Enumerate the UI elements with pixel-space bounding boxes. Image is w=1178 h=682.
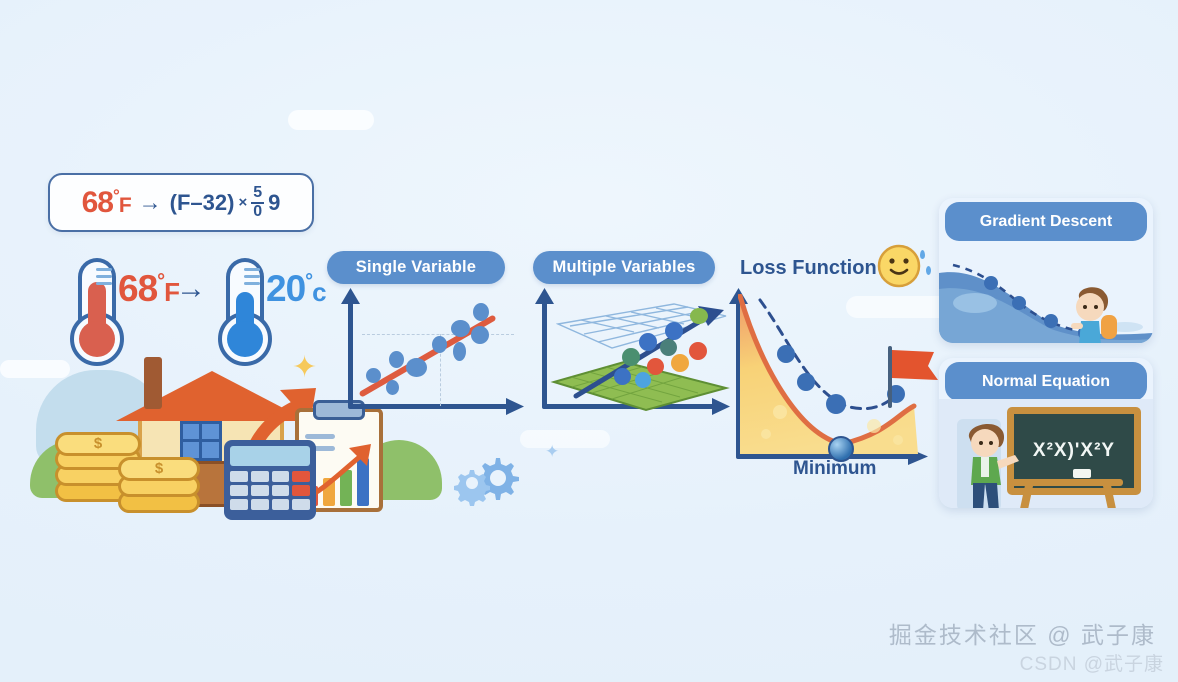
cloud-icon	[520, 430, 610, 448]
red-flag-icon	[888, 346, 944, 412]
gears-icon	[452, 450, 522, 506]
data-point	[689, 342, 707, 360]
sweat-drop-icon	[926, 266, 931, 275]
data-point	[622, 348, 640, 366]
panel-label-single-variable[interactable]: Single Variable	[327, 251, 505, 284]
data-point	[453, 342, 466, 361]
formula-times-icon: ×	[238, 194, 247, 211]
data-point	[671, 354, 689, 372]
conversion-formula-box: 68°F → (F–32) × 5 0 9	[48, 173, 314, 232]
data-point	[639, 333, 657, 351]
sparkle-icon: ✦	[545, 442, 559, 462]
data-point	[614, 368, 631, 385]
formula-trailing-digit: 9	[268, 190, 280, 216]
boy-walking-downhill-icon	[1055, 283, 1133, 343]
data-point	[451, 320, 470, 337]
blackboard-equation: X²X)'X²Y	[1033, 440, 1115, 462]
loss-function-label: Loss Function	[740, 257, 877, 280]
minimum-label: Minimum	[793, 458, 876, 480]
formula-expression: (F–32) × 5 0 9	[170, 185, 281, 220]
watermark-primary: 掘金技术社区 @ 武子康	[889, 616, 1156, 650]
cloud-icon	[288, 110, 374, 130]
illustration-canvas: 68°F → (F–32) × 5 0 9 68°F → 20°c	[0, 0, 1178, 682]
card-normal-equation[interactable]: Normal Equation X²X)'X²Y	[939, 358, 1153, 508]
watermark-secondary: CSDN @武子康	[1020, 649, 1164, 676]
smiley-face-icon	[876, 242, 924, 290]
data-point	[690, 308, 708, 324]
data-point	[386, 380, 399, 395]
sweat-drop-icon	[920, 250, 925, 259]
data-point	[389, 351, 404, 368]
card-title-normal-equation: Normal Equation	[945, 362, 1147, 401]
data-point	[660, 339, 677, 356]
eraser-icon	[1073, 469, 1091, 478]
temperature-label-celsius: 20°c	[266, 268, 326, 310]
surface-3d-chart	[534, 288, 734, 420]
formula-input-temp: 68°F	[82, 186, 131, 220]
coin-stack-icon: $	[118, 455, 200, 517]
boy-teacher-icon	[959, 417, 1031, 508]
data-point	[665, 322, 683, 340]
sparkle-icon: ✦	[292, 350, 317, 385]
panel-label-multiple-variables[interactable]: Multiple Variables	[533, 251, 715, 284]
data-point	[471, 326, 489, 344]
data-point	[406, 358, 427, 377]
cloud-icon	[0, 360, 70, 378]
calculator-icon	[224, 440, 316, 520]
formula-paren-term: (F–32)	[170, 190, 235, 216]
loss-function-chart	[730, 288, 940, 478]
card-gradient-descent[interactable]: Gradient Descent	[939, 198, 1153, 343]
formula-fraction: 5 0	[251, 185, 264, 220]
data-point	[366, 368, 381, 383]
data-point	[647, 358, 664, 375]
conversion-arrow-icon: →	[176, 272, 206, 306]
data-point	[635, 372, 651, 388]
card-title-gradient-descent: Gradient Descent	[945, 202, 1147, 241]
temperature-label-fahrenheit: 68°F	[118, 268, 179, 310]
formula-arrow-icon: →	[139, 191, 162, 214]
scatter-chart	[340, 288, 525, 418]
data-point	[473, 303, 489, 321]
data-point	[432, 336, 447, 353]
